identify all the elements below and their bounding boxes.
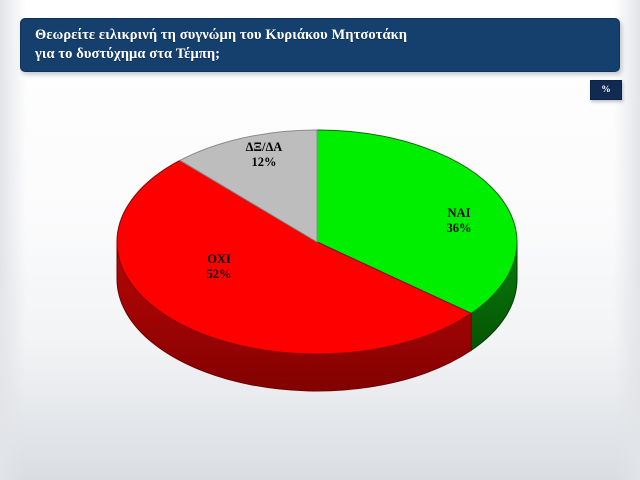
pie-chart-3d: ΝΑΙ 36% ΟΧΙ 52% ΔΞ/ΔΑ 12% bbox=[78, 102, 556, 402]
pie-top-faces bbox=[117, 130, 517, 354]
chart-area: ΝΑΙ 36% ΟΧΙ 52% ΔΞ/ΔΑ 12% bbox=[0, 96, 640, 416]
percent-unit-label: % bbox=[601, 85, 611, 95]
page-title: Θεωρείτε ειλικρινή τη συγνώμη του Κυριάκ… bbox=[35, 26, 609, 64]
footer-bar: NEWS alco The pulse of society bbox=[0, 422, 640, 480]
title-banner: Θεωρείτε ειλικρινή τη συγνώμη του Κυριάκ… bbox=[20, 18, 620, 72]
pie-chart-svg bbox=[78, 102, 556, 402]
